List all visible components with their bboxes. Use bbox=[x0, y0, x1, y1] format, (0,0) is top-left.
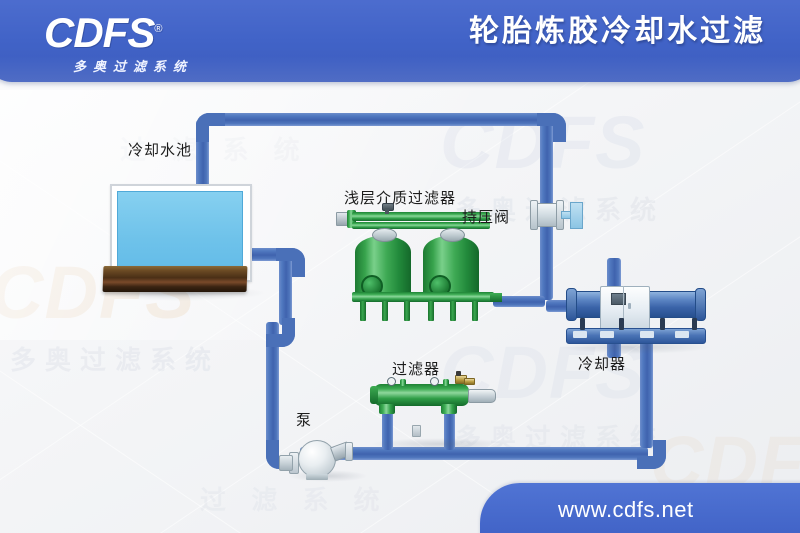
pump-motor bbox=[279, 455, 293, 471]
cooler-cabinet-handle[interactable] bbox=[628, 303, 631, 309]
filter-pressure-gauge bbox=[430, 377, 439, 386]
pipe-elbow-mid bbox=[266, 318, 295, 347]
filter-fitting-cap bbox=[456, 371, 461, 376]
cooling-pool-water bbox=[117, 191, 243, 273]
pressure-valve-flange bbox=[530, 200, 538, 230]
media-filter-leg bbox=[360, 301, 366, 321]
media-filter-leg bbox=[450, 301, 456, 321]
horizontal-filter-body bbox=[374, 384, 469, 406]
label-filter: 过滤器 bbox=[392, 358, 440, 379]
cooler-foot bbox=[580, 318, 585, 330]
pipe-elbow-top-right bbox=[537, 113, 566, 142]
label-pump: 泵 bbox=[296, 409, 312, 430]
page-footer: www.cdfs.net bbox=[480, 483, 800, 533]
label-media-filter: 浅层介质过滤器 bbox=[344, 187, 456, 208]
horizontal-filter-neck bbox=[441, 404, 457, 414]
website-url[interactable]: www.cdfs.net bbox=[558, 497, 694, 523]
cooler-foot bbox=[619, 318, 624, 330]
media-filter-leg bbox=[404, 301, 410, 321]
pump-baseplate bbox=[306, 474, 328, 480]
horizontal-filter-endcap bbox=[370, 386, 378, 404]
logo-text: CDFS® bbox=[44, 8, 222, 54]
page-header: CDFS® 多奥过滤系统 轮胎炼胶冷却水过滤 bbox=[0, 0, 800, 82]
cooler-vessel bbox=[643, 291, 703, 318]
pressure-valve-handle[interactable] bbox=[570, 202, 583, 229]
filter-drain-valve[interactable] bbox=[412, 425, 421, 437]
cooler-vessel-endcap bbox=[695, 288, 706, 321]
pump-volute bbox=[298, 440, 336, 478]
logo-subtitle: 多奥过滤系统 bbox=[44, 56, 222, 75]
cooler-foot bbox=[660, 318, 665, 330]
page-title: 轮胎炼胶冷却水过滤 bbox=[469, 10, 766, 54]
media-filter-vent-stem bbox=[385, 208, 389, 214]
filter-nozzle bbox=[443, 379, 449, 386]
label-cooling-pool: 冷却水池 bbox=[128, 139, 192, 160]
brand-logo: CDFS® 多奥过滤系统 bbox=[44, 8, 222, 75]
cooler-foot bbox=[692, 318, 697, 330]
media-filter-outlet-taper bbox=[490, 293, 502, 302]
label-cooler: 冷却器 bbox=[578, 353, 626, 374]
filter-nozzle bbox=[400, 379, 406, 386]
horizontal-filter-neck bbox=[379, 404, 395, 414]
pipe-top-main bbox=[205, 113, 545, 126]
cooler-vessel-endcap bbox=[566, 288, 577, 321]
label-pressure-valve: 持压阀 bbox=[462, 206, 510, 227]
media-filter-tank-cap bbox=[440, 228, 465, 242]
media-filter-leg bbox=[382, 301, 388, 321]
diagram-canvas: CDFS 多奥过滤系统 CDFS 多奥过滤系统 CDFS 多奥过滤系统 过 滤 … bbox=[0, 0, 800, 533]
logo-wordmark: CDFS bbox=[44, 9, 154, 56]
pipe-elbow-pool-out bbox=[276, 248, 305, 277]
watermark-brand-cn: 多奥过滤系统 bbox=[10, 340, 220, 377]
pipe-elbow-top-left bbox=[196, 113, 225, 142]
horizontal-filter-outlet-cap bbox=[468, 389, 496, 403]
media-filter-tank-cap bbox=[372, 228, 397, 242]
filter-pressure-gauge bbox=[387, 377, 396, 386]
pump-discharge-flange bbox=[345, 442, 353, 461]
registered-trademark-icon: ® bbox=[154, 23, 161, 35]
media-filter-leg bbox=[428, 301, 434, 321]
filter-brass-fitting bbox=[464, 378, 475, 385]
pool-ground-base bbox=[103, 266, 248, 292]
pipe-cooler-return bbox=[640, 340, 653, 448]
watermark-tile: 过 滤 系 统 bbox=[200, 480, 389, 517]
media-filter-leg bbox=[472, 301, 478, 321]
